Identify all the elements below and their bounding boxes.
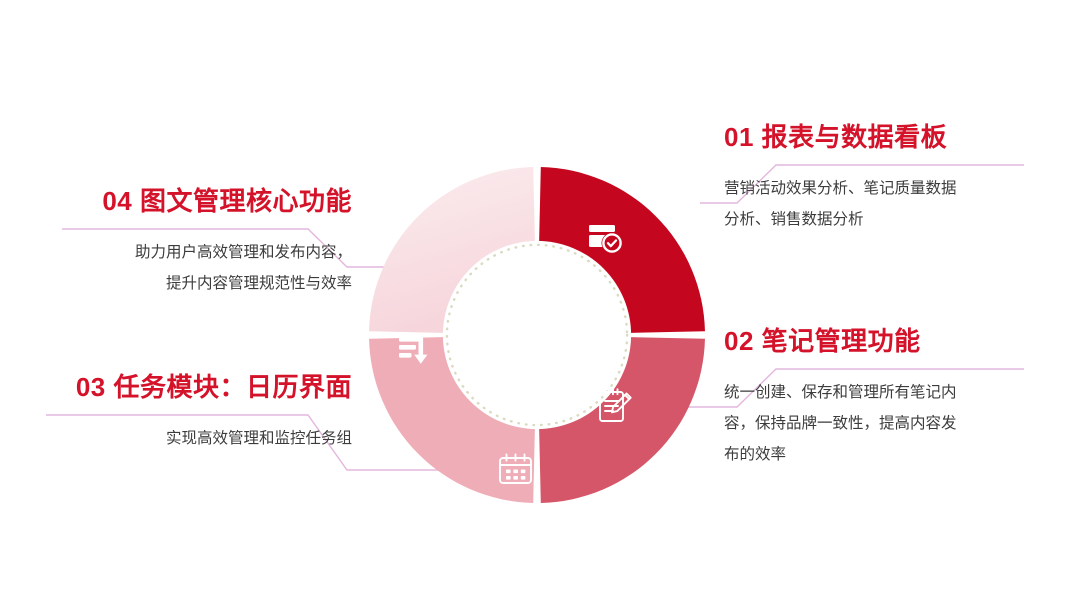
section-body-line: 布的效率 bbox=[724, 439, 1024, 470]
section-body-line: 统一创建、保存和管理所有笔记内 bbox=[724, 377, 1024, 408]
section-block-01: 01 报表与数据看板 营销活动效果分析、笔记质量数据 分析、销售数据分析 bbox=[724, 122, 1024, 235]
donut-svg bbox=[367, 165, 707, 505]
section-body-line: 营销活动效果分析、笔记质量数据 bbox=[724, 173, 1024, 204]
section-title-03: 03 任务模块：日历界面 bbox=[40, 372, 352, 403]
section-body-line: 分析、销售数据分析 bbox=[724, 204, 1024, 235]
section-body-line: 助力用户高效管理和发布内容， bbox=[56, 237, 352, 268]
section-body-01: 营销活动效果分析、笔记质量数据 分析、销售数据分析 bbox=[724, 173, 1024, 235]
section-block-03: 03 任务模块：日历界面 实现高效管理和监控任务组 bbox=[40, 372, 352, 454]
section-block-04: 04 图文管理核心功能 助力用户高效管理和发布内容， 提升内容管理规范性与效率 bbox=[56, 186, 352, 299]
section-title-01: 01 报表与数据看板 bbox=[724, 122, 1024, 153]
section-block-02: 02 笔记管理功能 统一创建、保存和管理所有笔记内 容，保持品牌一致性，提高内容… bbox=[724, 326, 1024, 470]
section-body-line: 容，保持品牌一致性，提高内容发 bbox=[724, 408, 1024, 439]
section-body-line: 实现高效管理和监控任务组 bbox=[40, 423, 352, 454]
donut-chart bbox=[367, 165, 707, 505]
section-body-03: 实现高效管理和监控任务组 bbox=[40, 423, 352, 454]
section-title-04: 04 图文管理核心功能 bbox=[56, 186, 352, 217]
section-title-02: 02 笔记管理功能 bbox=[724, 326, 1024, 357]
section-body-line: 提升内容管理规范性与效率 bbox=[56, 268, 352, 299]
slide-canvas: 01 报表与数据看板 营销活动效果分析、笔记质量数据 分析、销售数据分析 02 … bbox=[0, 0, 1080, 608]
section-body-04: 助力用户高效管理和发布内容， 提升内容管理规范性与效率 bbox=[56, 237, 352, 299]
section-body-02: 统一创建、保存和管理所有笔记内 容，保持品牌一致性，提高内容发 布的效率 bbox=[724, 377, 1024, 470]
donut-hole bbox=[443, 241, 631, 429]
